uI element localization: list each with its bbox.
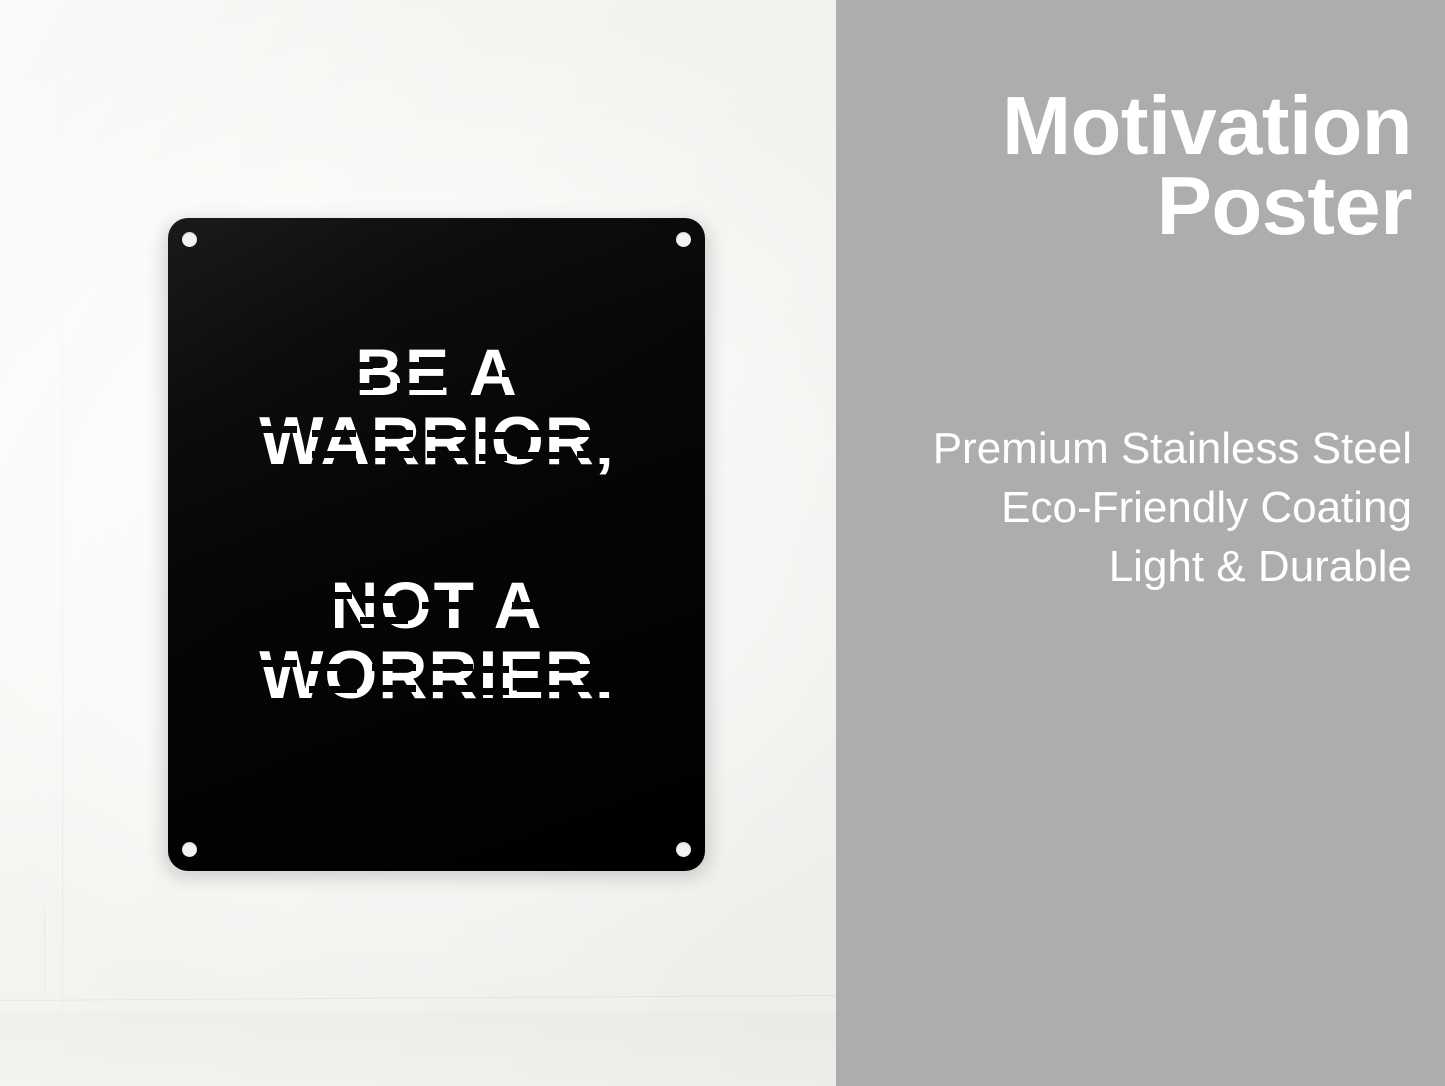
svg-text:WORRIER.: WORRIER. bbox=[259, 640, 615, 710]
mounting-hole-top-right bbox=[676, 232, 691, 247]
mounting-hole-bottom-left bbox=[182, 842, 197, 857]
feature-item-1: Premium Stainless Steel bbox=[860, 420, 1412, 479]
product-marketing-scene: BE A bbox=[0, 0, 1445, 1086]
marketing-panel: Motivation Poster Premium Stainless Stee… bbox=[836, 0, 1445, 1086]
mounting-hole-bottom-right bbox=[676, 842, 691, 857]
mounting-hole-top-left bbox=[182, 232, 197, 247]
plate-surface: BE A bbox=[168, 218, 705, 871]
svg-text:BE A: BE A bbox=[355, 340, 518, 406]
wall-trim-detail bbox=[44, 908, 45, 994]
sign-text-block: BE A bbox=[168, 340, 705, 710]
sign-line-1: BE A bbox=[287, 340, 587, 406]
sign-line-3: NOT A bbox=[272, 572, 602, 640]
feature-item-3: Light & Durable bbox=[860, 538, 1412, 597]
svg-text:WARRIOR,: WARRIOR, bbox=[259, 406, 615, 476]
sign-line-4: WORRIER. bbox=[217, 640, 657, 710]
panel-title: Motivation Poster bbox=[860, 0, 1412, 245]
sign-line-2: WARRIOR, bbox=[217, 406, 657, 476]
svg-text:NOT A: NOT A bbox=[330, 572, 543, 640]
feature-item-2: Eco-Friendly Coating bbox=[860, 479, 1412, 538]
panel-title-line-2: Poster bbox=[860, 166, 1412, 246]
wall-corner-edge bbox=[62, 0, 63, 1010]
panel-feature-list: Premium Stainless Steel Eco-Friendly Coa… bbox=[860, 245, 1412, 597]
panel-title-line-1: Motivation bbox=[860, 86, 1412, 166]
metal-sign-plate: BE A bbox=[168, 218, 705, 871]
wall-floor-shade bbox=[0, 1012, 836, 1086]
marketing-panel-content: Motivation Poster Premium Stainless Stee… bbox=[836, 0, 1445, 1086]
